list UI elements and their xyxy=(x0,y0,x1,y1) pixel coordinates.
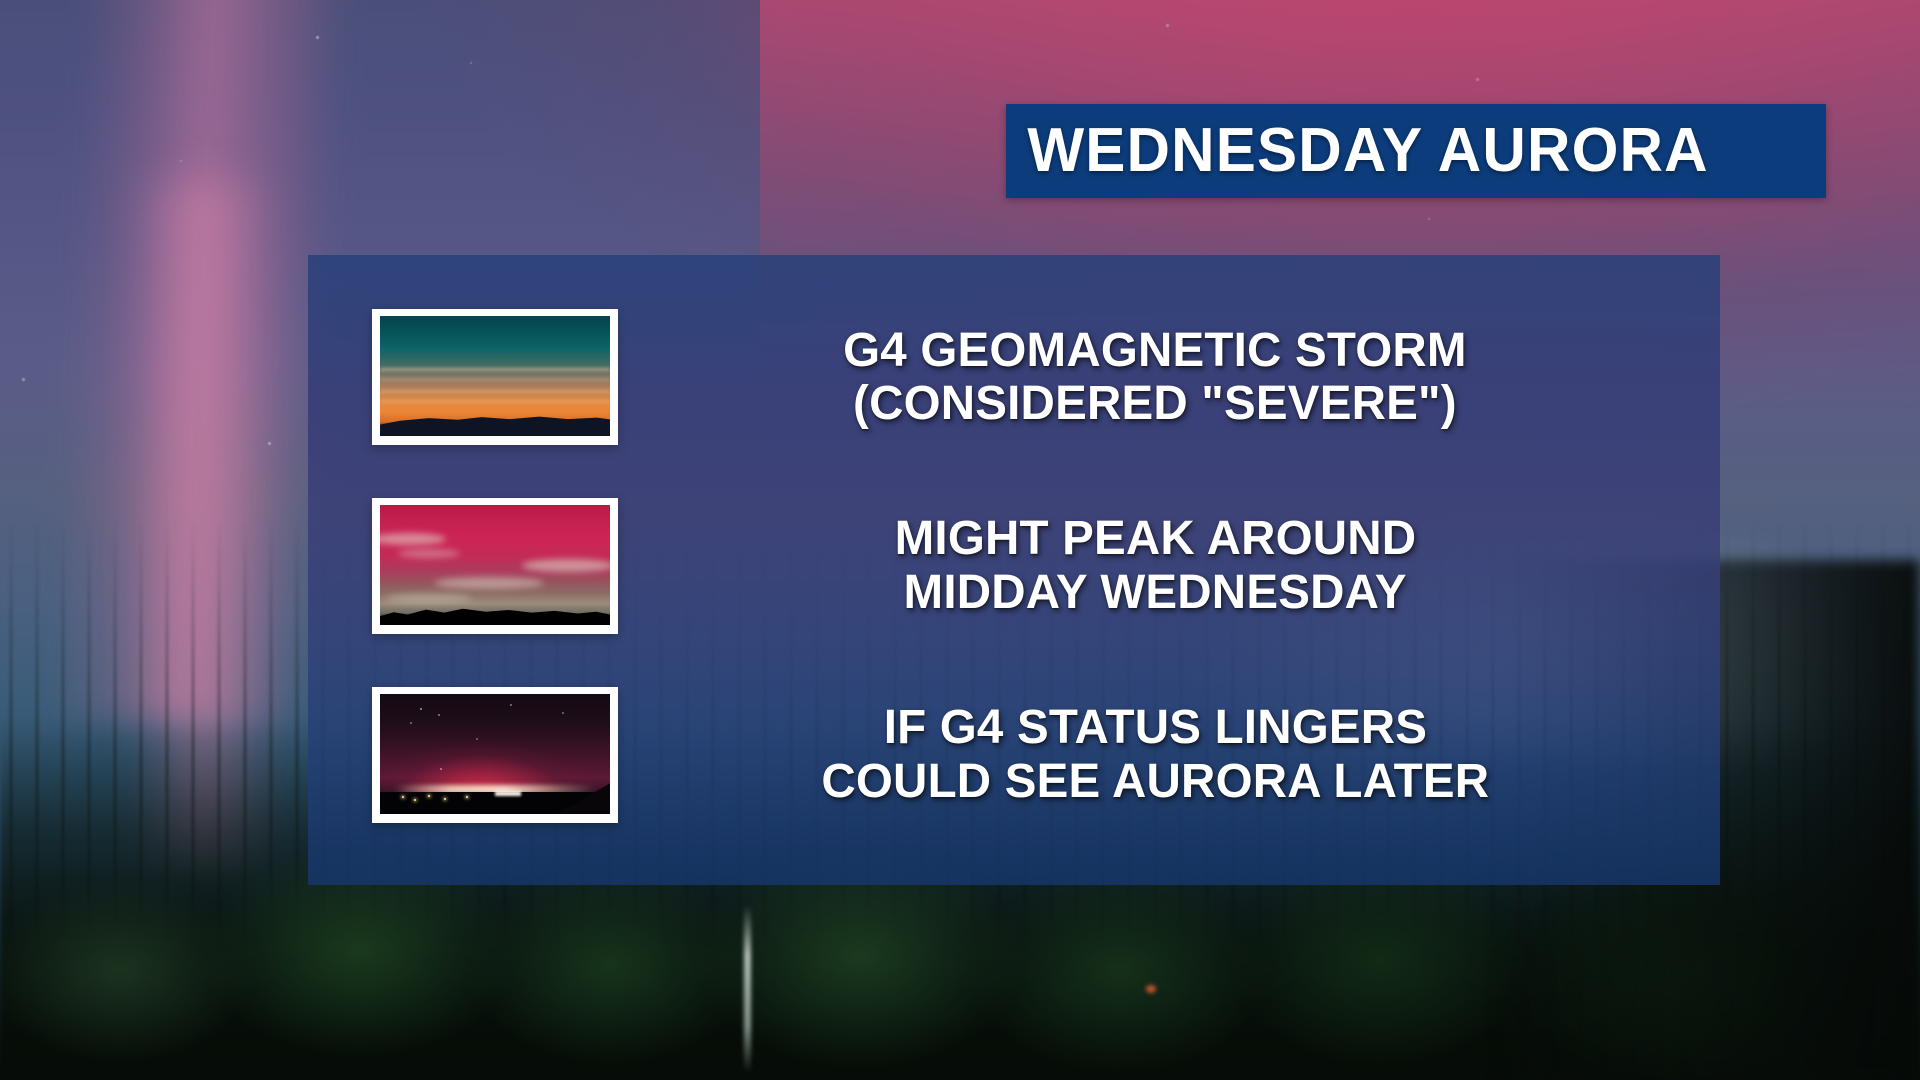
star xyxy=(180,160,182,162)
info-row-text: MIGHT PEAK AROUND MIDDAY WEDNESDAY xyxy=(618,512,1720,620)
info-line: MIGHT PEAK AROUND xyxy=(894,512,1416,566)
page-title: WEDNESDAY AURORA xyxy=(1006,120,1709,182)
info-row: G4 GEOMAGNETIC STORM (CONSIDERED "SEVERE… xyxy=(308,283,1720,472)
house-light-glow-secondary xyxy=(1146,985,1156,993)
info-row: IF G4 STATUS LINGERS COULD SEE AURORA LA… xyxy=(308,660,1720,849)
info-line: (CONSIDERED "SEVERE") xyxy=(853,377,1457,431)
bright-light-streak xyxy=(495,791,521,796)
thumbnail-frame xyxy=(372,498,618,634)
fountain-water-jet xyxy=(744,905,751,1073)
star xyxy=(470,62,472,64)
thumbnail-frame xyxy=(372,687,618,823)
info-line: G4 GEOMAGNETIC STORM xyxy=(843,324,1467,378)
star xyxy=(268,442,271,445)
info-row-text: IF G4 STATUS LINGERS COULD SEE AURORA LA… xyxy=(618,701,1720,809)
star xyxy=(316,36,319,39)
info-row: MIGHT PEAK AROUND MIDDAY WEDNESDAY xyxy=(308,472,1720,661)
info-line: COULD SEE AURORA LATER xyxy=(821,755,1489,809)
title-banner: WEDNESDAY AURORA xyxy=(1006,104,1826,198)
thumbnail-frame xyxy=(372,309,618,445)
aurora-photo-red-glow-night xyxy=(380,694,610,814)
star xyxy=(1476,78,1479,81)
info-panel: G4 GEOMAGNETIC STORM (CONSIDERED "SEVERE… xyxy=(308,255,1720,885)
mountain-ridge-silhouette xyxy=(380,410,610,436)
info-rows: G4 GEOMAGNETIC STORM (CONSIDERED "SEVERE… xyxy=(308,255,1720,885)
info-line: MIDDAY WEDNESDAY xyxy=(903,566,1406,620)
weather-graphic-stage: WEDNESDAY AURORA G4 GEOMAGNETIC STORM xyxy=(0,0,1920,1080)
star xyxy=(22,378,25,381)
treeline-silhouette xyxy=(380,603,610,625)
info-line: IF G4 STATUS LINGERS xyxy=(883,701,1426,755)
aurora-photo-crimson-sky xyxy=(380,505,610,625)
star xyxy=(1428,218,1430,220)
info-row-text: G4 GEOMAGNETIC STORM (CONSIDERED "SEVERE… xyxy=(618,324,1720,432)
aurora-photo-teal-orange-sunset xyxy=(380,316,610,436)
star xyxy=(1166,24,1169,27)
